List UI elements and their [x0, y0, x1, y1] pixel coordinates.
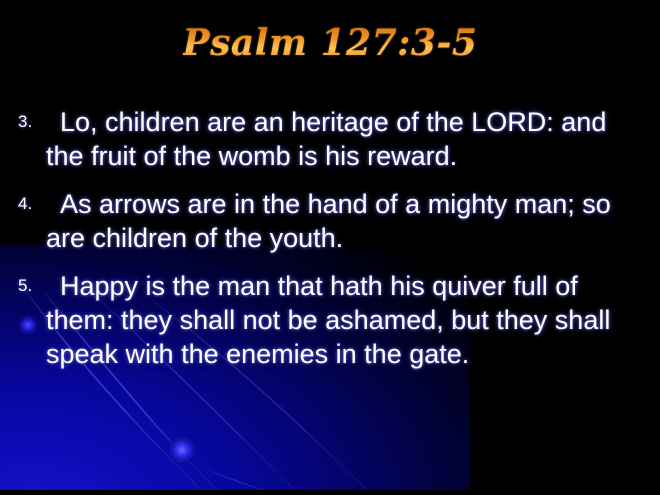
verse-text: Happy is the man that hath his quiver fu… [46, 269, 644, 371]
verse-item: 3.Lo, children are an heritage of the LO… [0, 105, 660, 173]
arc-line-5 [208, 470, 278, 495]
verse-number: 5. [18, 269, 46, 303]
page-title: Psalm 127:3-5 [183, 22, 478, 64]
verse-number: 3. [18, 105, 46, 139]
title-area: Psalm 127:3-5 [0, 22, 660, 64]
verse-text: Lo, children are an heritage of the LORD… [46, 105, 644, 173]
verse-text: As arrows are in the hand of a mighty ma… [46, 187, 644, 255]
verse-item: 5.Happy is the man that hath his quiver … [0, 269, 660, 371]
bottom-black-strip [0, 490, 660, 495]
glow-dot-lower-icon [168, 436, 196, 464]
verse-list: 3.Lo, children are an heritage of the LO… [0, 105, 660, 385]
presentation-slide: Psalm 127:3-5 3.Lo, children are an heri… [0, 0, 660, 495]
verse-number: 4. [18, 187, 46, 221]
verse-item: 4.As arrows are in the hand of a mighty … [0, 187, 660, 255]
